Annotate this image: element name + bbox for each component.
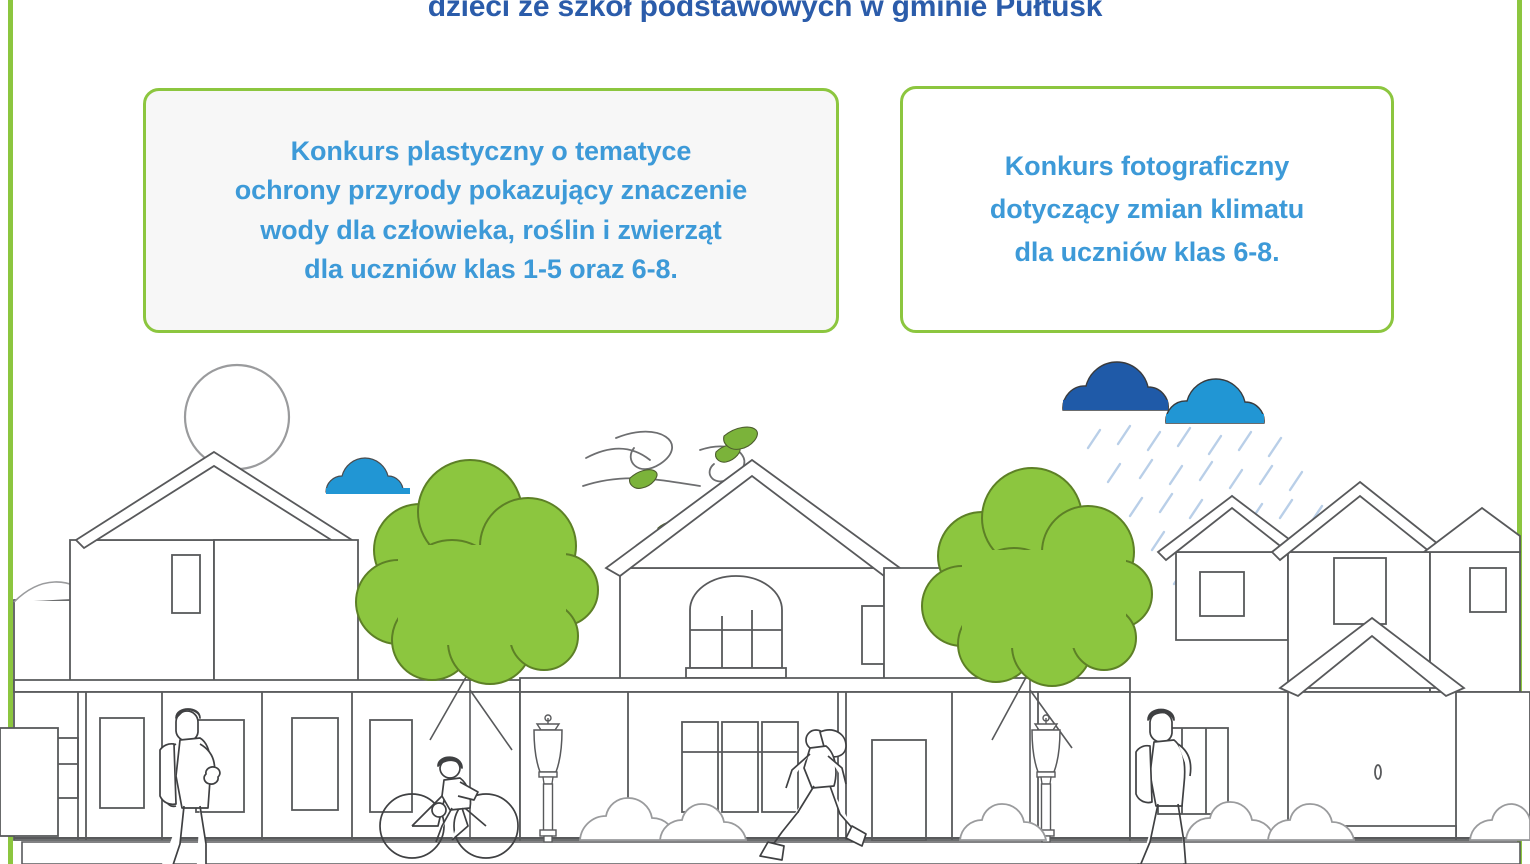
cloud-dark-blue <box>1063 362 1168 410</box>
contest-card-plastyczny: Konkurs plastyczny o tematyce ochrony pr… <box>143 88 839 333</box>
sun-outline <box>185 365 289 469</box>
poster-canvas: dzieci ze szkół podstawowych w gminie Pu… <box>0 0 1530 864</box>
contest-card-fotograficzny: Konkurs fotograficzny dotyczący zmian kl… <box>900 86 1394 333</box>
contest-card-fotograficzny-text: Konkurs fotograficzny dotyczący zmian kl… <box>990 145 1304 275</box>
cloud-light-blue <box>1166 379 1264 423</box>
street-illustration <box>0 340 1530 864</box>
house-right-c <box>1424 508 1520 692</box>
buildings-line-art <box>0 452 1530 864</box>
page-title: dzieci ze szkół podstawowych w gminie Pu… <box>0 0 1530 24</box>
house-left <box>70 452 358 685</box>
cloud-small-blue <box>326 458 410 494</box>
contest-card-plastyczny-text: Konkurs plastyczny o tematyce ochrony pr… <box>235 132 747 289</box>
